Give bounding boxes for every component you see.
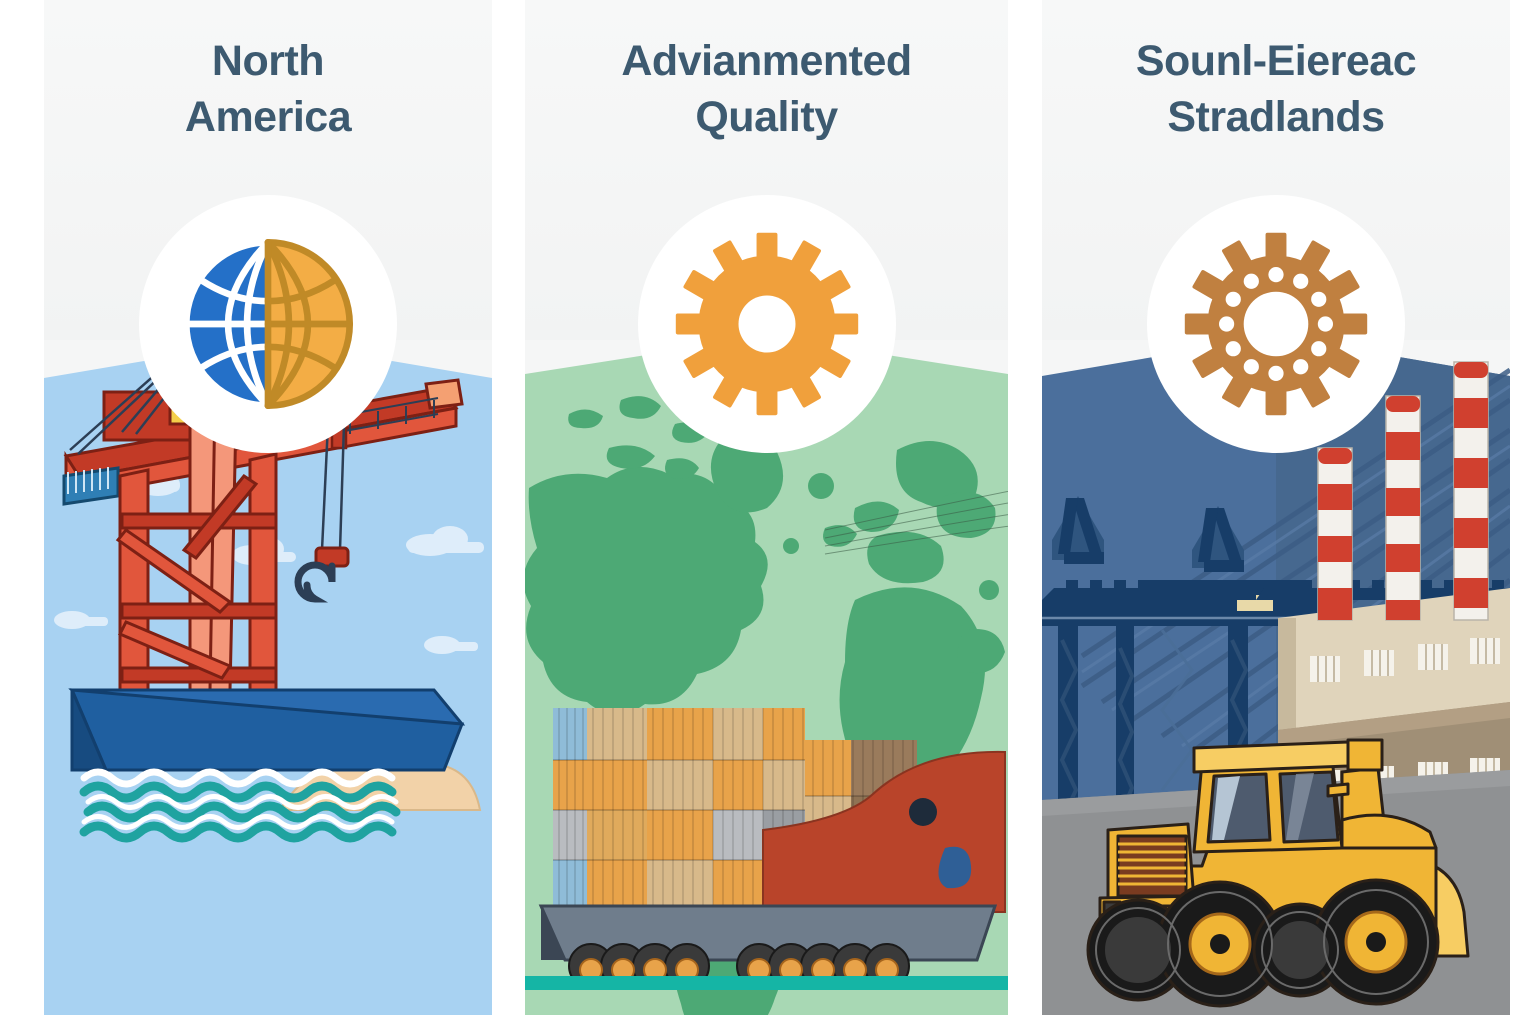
panel-advianmented-quality[interactable]: Advianmented Quality: [525, 0, 1008, 1015]
split-globe-icon: [173, 229, 363, 419]
panel-sounl-eiereac-stradlands[interactable]: Sounl-Eiereac Stradlands: [1042, 0, 1510, 1015]
poster-canvas: North America: [0, 0, 1536, 1024]
panel-north-america[interactable]: North America: [44, 0, 492, 1015]
icon-badge-advianmented-quality: [638, 195, 896, 453]
gear-icon: [672, 229, 862, 419]
panel-title-sounl-eiereac-stradlands: Sounl-Eiereac Stradlands: [1050, 34, 1502, 146]
icon-badge-sounl-eiereac-stradlands: [1147, 195, 1405, 453]
gear-holes-icon: [1181, 229, 1371, 419]
panel-title-advianmented-quality: Advianmented Quality: [533, 34, 1000, 146]
icon-badge-north-america: [139, 195, 397, 453]
panel-title-north-america: North America: [52, 34, 484, 146]
